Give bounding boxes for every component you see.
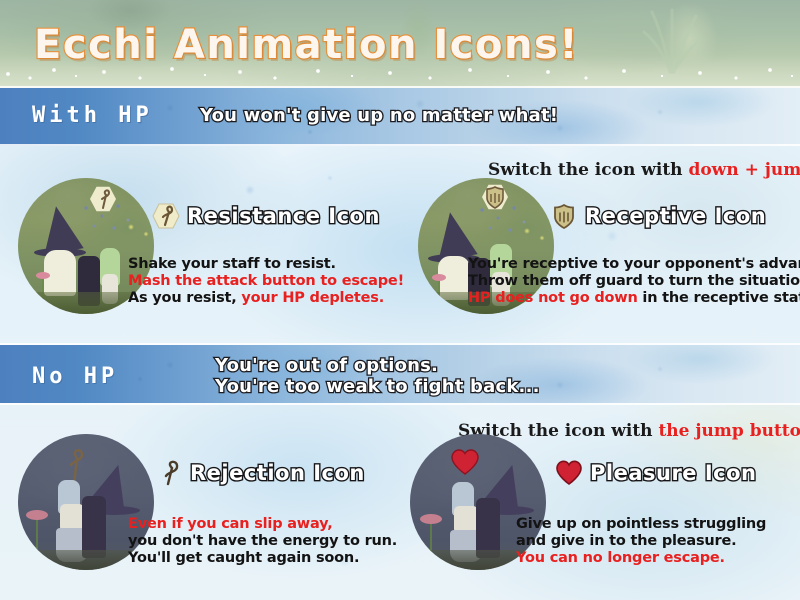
switch-hint-with-hp: Switch the icon with down + jump !!	[488, 160, 800, 180]
banner-divider-3	[0, 403, 800, 405]
resistance-icon-row: Resistance Icon	[152, 202, 380, 230]
switch-hint-prefix: Switch the icon with	[488, 160, 688, 180]
desc-line: You're receptive to your opponent's adva…	[468, 256, 800, 273]
desc-line: Mash the attack button to escape!	[128, 273, 404, 290]
receptive-icon-label: Receptive Icon	[585, 204, 766, 228]
heart-in-scene-icon	[450, 448, 480, 476]
yellow-flowers	[522, 226, 548, 244]
flower-head	[26, 510, 48, 520]
switch-hint-key: down + jump	[688, 160, 800, 180]
receptive-description: You're receptive to your opponent's adva…	[468, 256, 800, 307]
desc-line: you don't have the energy to run.	[128, 533, 397, 550]
pleasure-icon-row: Pleasure Icon	[555, 459, 757, 487]
resistance-description: Shake your staff to resist. Mash the att…	[128, 256, 404, 307]
desc-line: You'll get caught again soon.	[128, 550, 397, 567]
staff-icon	[155, 459, 183, 487]
section-label-no-hp: No HP	[32, 364, 118, 389]
rejection-description: Even if you can slip away, you don't hav…	[128, 516, 397, 567]
banner-divider-1	[0, 144, 800, 146]
page-title: Ecchi Animation Icons!	[34, 22, 579, 68]
switch-hint-key: the jump button	[658, 421, 800, 441]
section-message-with-hp: You won't give up no matter what!	[200, 105, 558, 126]
desc-line: You can no longer escape.	[516, 550, 766, 567]
rejection-icon-row: Rejection Icon	[155, 459, 365, 487]
header-photo-band: Ecchi Animation Icons!	[0, 0, 800, 88]
desc-line: As you resist, your HP depletes.	[128, 290, 404, 307]
section-message-no-hp: You're out of options. You're too weak t…	[215, 355, 540, 397]
flower-head	[420, 514, 442, 524]
pleasure-description: Give up on pointless struggling and give…	[516, 516, 766, 567]
section-label-with-hp: With HP	[32, 103, 153, 128]
dark-character	[82, 496, 106, 558]
dark-character	[476, 498, 500, 558]
promo-banner-page: Ecchi Animation Icons! With HP You won't…	[0, 0, 800, 600]
desc-line: HP does not go down in the receptive sta…	[468, 290, 800, 307]
receptive-icon-row: Receptive Icon	[550, 202, 766, 230]
desc-line: Shake your staff to resist.	[128, 256, 404, 273]
resistance-icon-label: Resistance Icon	[187, 204, 380, 228]
shield-badge-icon	[550, 202, 578, 230]
desc-line: and give in to the pleasure.	[516, 533, 766, 550]
desc-line: Give up on pointless struggling	[516, 516, 766, 533]
yellow-flowers	[126, 222, 152, 240]
pleasure-icon-label: Pleasure Icon	[590, 461, 757, 485]
flower-head	[36, 272, 50, 279]
desc-line: Throw them off guard to turn the situati…	[468, 273, 800, 290]
heart-icon	[555, 459, 583, 487]
flower-head	[432, 274, 446, 281]
staff-badge-icon	[152, 202, 180, 230]
rejection-icon-label: Rejection Icon	[190, 461, 365, 485]
desc-line: Even if you can slip away,	[128, 516, 397, 533]
